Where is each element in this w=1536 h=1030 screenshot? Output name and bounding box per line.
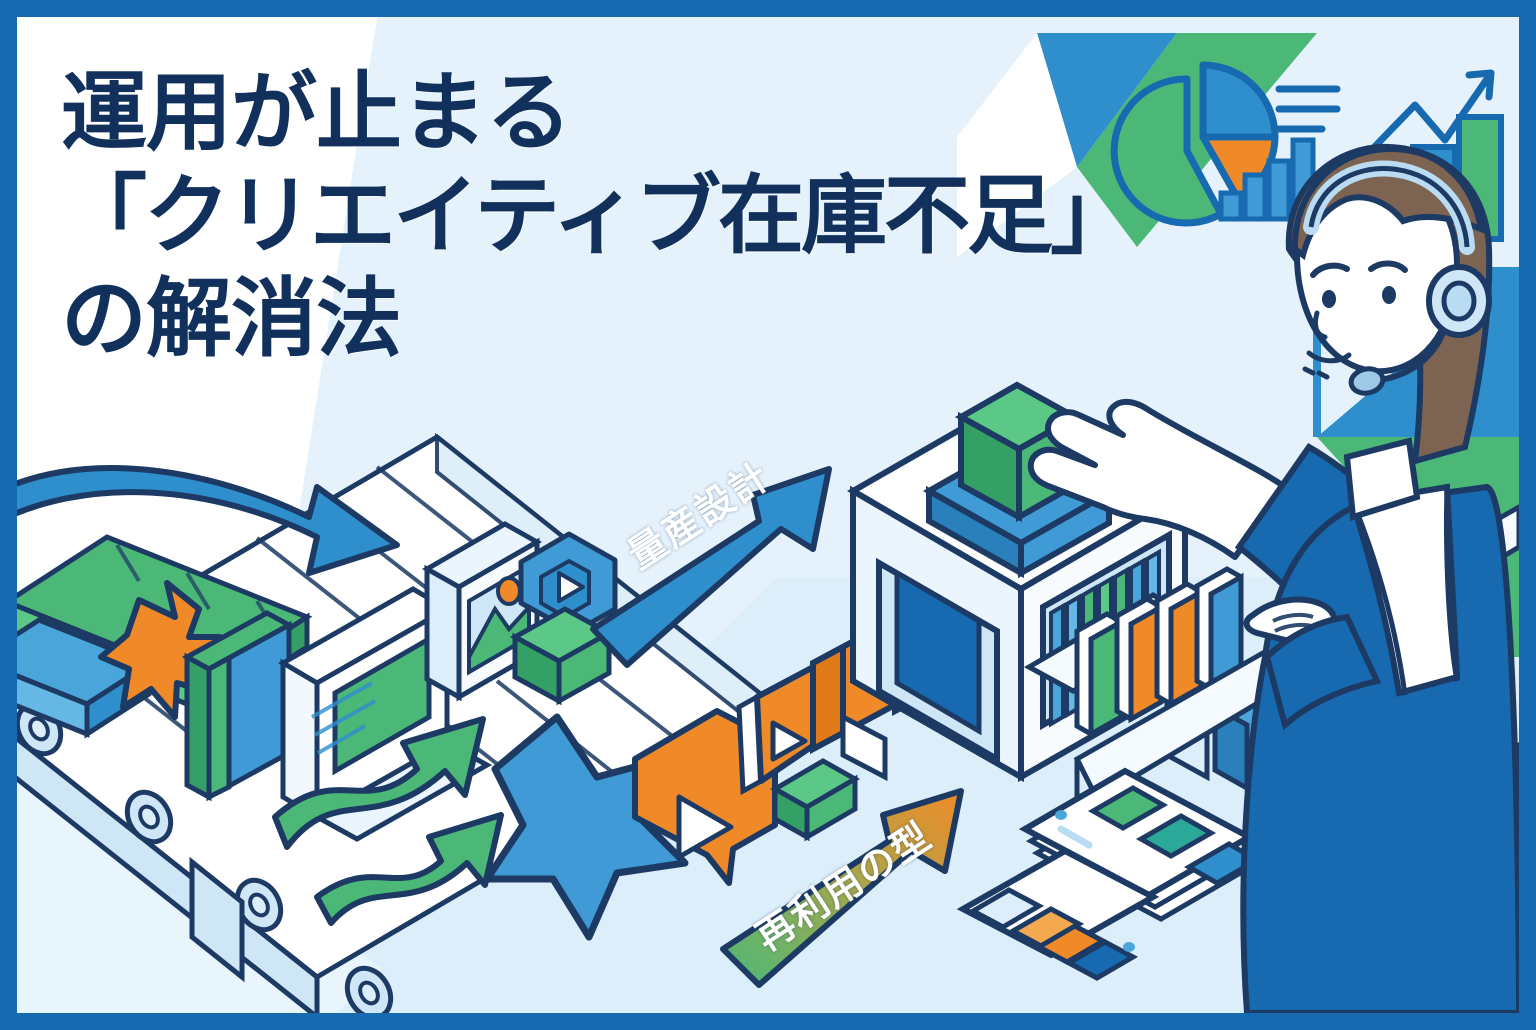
- poster-inner-frame: 量産設計 再利用の型 運用が止まる 「クリエイティブ在庫不足」 の解消法: [17, 17, 1519, 1013]
- isometric-illustration: [17, 17, 1519, 1013]
- poster-canvas: 量産設計 再利用の型 運用が止まる 「クリエイティブ在庫不足」 の解消法: [0, 0, 1536, 1030]
